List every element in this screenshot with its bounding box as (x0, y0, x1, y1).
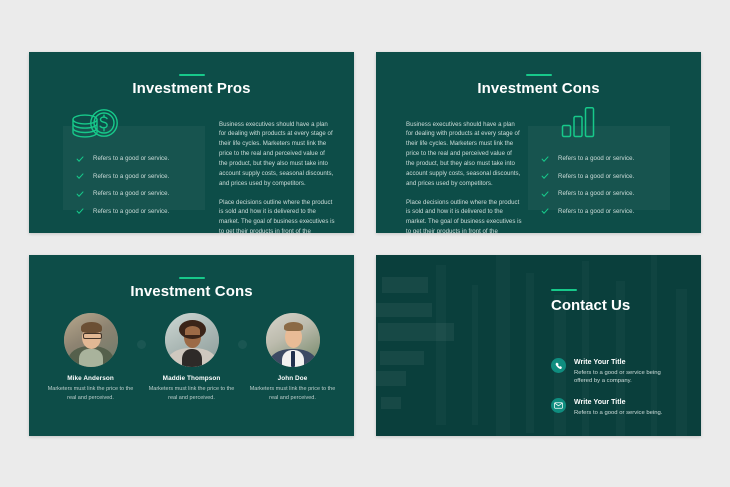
member-name: John Doe (247, 375, 339, 382)
slide-contact[interactable]: Contact Us Write Your Title Refers to a … (376, 255, 701, 436)
check-icon (541, 190, 549, 198)
list-item-label: Refers to a good or service. (558, 190, 634, 197)
paragraph: Place decisions outline where the produc… (219, 198, 335, 233)
accent-bar (551, 289, 577, 292)
member-description: Marketers must link the price to the rea… (146, 385, 238, 402)
money-coins-icon (69, 107, 121, 146)
member-description: Marketers must link the price to the rea… (247, 385, 339, 402)
member-name: Maddie Thompson (146, 375, 238, 382)
member-name: Mike Anderson (45, 375, 137, 382)
accent-bar (179, 74, 205, 77)
slide-team[interactable]: Investment Cons Mike Anderson Marketers … (29, 255, 354, 436)
contact-item-phone[interactable]: Write Your Title Refers to a good or ser… (551, 358, 676, 386)
separator-dot (137, 340, 146, 349)
list-item-label: Refers to a good or service. (93, 208, 169, 215)
checklist: Refers to a good or service. Refers to a… (76, 155, 169, 225)
paragraph: Business executives should have a plan f… (219, 120, 335, 189)
list-item-label: Refers to a good or service. (93, 173, 169, 180)
list-item[interactable]: Refers to a good or service. (541, 190, 634, 198)
accent-bar (179, 277, 205, 280)
list-item-label: Refers to a good or service. (93, 190, 169, 197)
list-item[interactable]: Refers to a good or service. (76, 155, 169, 163)
list-item-label: Refers to a good or service. (93, 155, 169, 162)
avatar-mike-anderson (64, 313, 118, 367)
team-member-card[interactable]: Maddie Thompson Marketers must link the … (146, 313, 238, 403)
contact-text-phone: Write Your Title Refers to a good or ser… (574, 358, 676, 386)
contact-list: Write Your Title Refers to a good or ser… (551, 358, 676, 418)
list-item[interactable]: Refers to a good or service. (76, 190, 169, 198)
check-icon (541, 172, 549, 180)
page-title: Investment Cons (376, 81, 701, 98)
contact-description: Refers to a good or service being offere… (574, 369, 676, 387)
list-item[interactable]: Refers to a good or service. (76, 172, 169, 180)
member-description: Marketers must link the price to the rea… (45, 385, 137, 402)
paragraph: Place decisions outline where the produc… (406, 198, 522, 233)
contact-description: Refers to a good or service being. (574, 409, 662, 418)
check-icon (76, 155, 84, 163)
separator-dot (238, 340, 247, 349)
avatar-maddie-thompson (165, 313, 219, 367)
page-title: Contact Us (551, 297, 676, 314)
contact-title: Write Your Title (574, 359, 676, 366)
slide-investment-cons[interactable]: Investment Cons Refers to a good or serv… (376, 52, 701, 233)
list-item[interactable]: Refers to a good or service. (76, 207, 169, 215)
check-icon (76, 207, 84, 215)
check-icon (76, 190, 84, 198)
check-icon (76, 172, 84, 180)
list-item-label: Refers to a good or service. (558, 173, 634, 180)
list-item[interactable]: Refers to a good or service. (541, 207, 634, 215)
slide-deck: Investment Pros Refers to a good or serv… (0, 0, 730, 487)
contact-text-email: Write Your Title Refers to a good or ser… (574, 398, 662, 417)
body-text-column: Business executives should have a plan f… (406, 120, 522, 233)
envelope-icon (551, 398, 566, 413)
team-member-row: Mike Anderson Marketers must link the pr… (29, 313, 354, 403)
contact-item-email[interactable]: Write Your Title Refers to a good or ser… (551, 398, 676, 417)
page-title: Investment Pros (29, 81, 354, 98)
avatar-john-doe (266, 313, 320, 367)
list-item[interactable]: Refers to a good or service. (541, 155, 634, 163)
accent-bar (526, 74, 552, 77)
phone-icon (551, 358, 566, 373)
paragraph: Business executives should have a plan f… (406, 120, 522, 189)
check-icon (541, 207, 549, 215)
slide-4-title-block: Contact Us (551, 289, 676, 315)
check-icon (541, 155, 549, 163)
contact-content: Contact Us Write Your Title Refers to a … (551, 289, 676, 418)
slide-3-title-block: Investment Cons (29, 277, 354, 301)
team-member-card[interactable]: Mike Anderson Marketers must link the pr… (45, 313, 137, 403)
contact-title: Write Your Title (574, 399, 662, 406)
list-item-label: Refers to a good or service. (558, 208, 634, 215)
team-member-card[interactable]: John Doe Marketers must link the price t… (247, 313, 339, 403)
checklist: Refers to a good or service. Refers to a… (541, 155, 634, 225)
bar-chart-icon (561, 106, 597, 143)
slide-1-title-block: Investment Pros (29, 74, 354, 98)
page-title: Investment Cons (29, 284, 354, 301)
slide-2-title-block: Investment Cons (376, 74, 701, 98)
body-text-column: Business executives should have a plan f… (219, 120, 335, 233)
list-item[interactable]: Refers to a good or service. (541, 172, 634, 180)
list-item-label: Refers to a good or service. (558, 155, 634, 162)
slide-investment-pros[interactable]: Investment Pros Refers to a good or serv… (29, 52, 354, 233)
